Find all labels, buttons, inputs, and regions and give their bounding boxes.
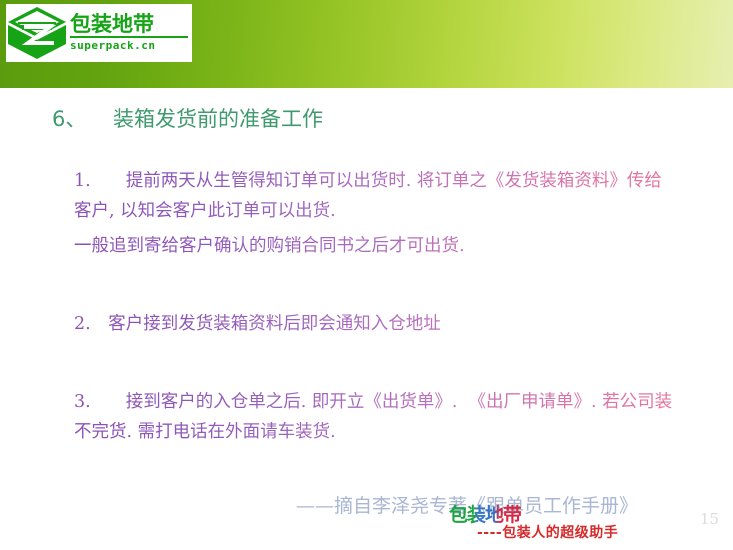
page-number: 15 (700, 512, 719, 527)
watermark-tagline: ----包装人的超级助手 (477, 522, 618, 542)
page-title: 6、 装箱发货前的准备工作 (52, 106, 323, 133)
body-paragraph-3: 3. 接到客户的入仓单之后. 即开立《出货单》. 《出厂申请单》. 若公司装不完… (74, 387, 674, 447)
brand-url: superpack.cn (70, 39, 192, 53)
body-paragraph-2: 2. 客户接到发货装箱资料后即会通知入仓地址 (74, 309, 674, 339)
slide-body: 1. 提前两天从生管得知订单可以出货时. 将订单之《发货装箱资料》传给客户, 以… (74, 166, 674, 447)
brand-logo-text: 包装地带 superpack.cn (68, 13, 192, 53)
package-box-icon (6, 5, 68, 61)
body-paragraph-1-note: 一般追到寄给客户确认的购销合同书之后才可出货. (74, 231, 674, 261)
brand-name-cn: 包装地带 (70, 13, 188, 38)
source-citation: ——摘自李泽尧专著《跟单员工作手册》 (296, 494, 638, 519)
brand-logo[interactable]: 包装地带 superpack.cn (6, 4, 192, 62)
presentation-slide: 包装地带 superpack.cn 6、 装箱发货前的准备工作 1. 提前两天从… (0, 0, 733, 550)
body-paragraph-1: 1. 提前两天从生管得知订单可以出货时. 将订单之《发货装箱资料》传给客户, 以… (74, 166, 674, 226)
